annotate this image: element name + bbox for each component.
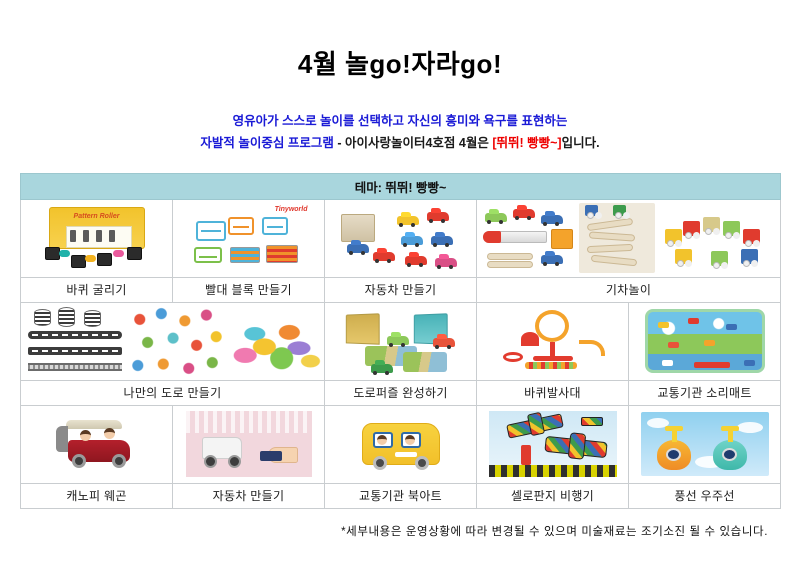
mat-car-orange: [704, 340, 715, 346]
label-car-craft: 자동차 만들기: [173, 483, 325, 508]
puzzle-car-red: [433, 338, 455, 347]
mat-car-red: [688, 318, 699, 324]
straw-frame-blue-2: [262, 217, 288, 235]
theme-banner: 테마: 뛰뛰! 빵빵~: [21, 173, 781, 199]
alpha-car-red-2: [743, 229, 760, 244]
photo-cell-book-art: [325, 405, 477, 483]
car-yellow-1: [397, 216, 419, 225]
mat-car-yellow: [658, 322, 669, 328]
row1-photos: Pattern Roller: [21, 199, 781, 277]
page-title-container: 4월 놀go!자라go!: [20, 0, 780, 81]
photo-cell-my-road: [21, 302, 325, 380]
bus-wheel-front: [373, 456, 387, 470]
curvy-road-tape: [28, 331, 122, 339]
wagon-wheel-front: [72, 454, 86, 468]
child-2: [104, 428, 115, 439]
train-toy-blue: [541, 215, 563, 224]
label-wheel-launcher: 바퀴발사대: [477, 380, 629, 405]
tape-roll-3: [84, 310, 101, 327]
row1-labels: 바퀴 굴리기 빨대 블록 만들기 자동차 만들기 기차놀이: [21, 277, 781, 302]
road-tape-photo: [24, 305, 128, 377]
straw-frame-blue: [196, 221, 226, 241]
row3-labels: 캐노피 웨곤 자동차 만들기 교통기관 북아트 셀로판지 비행기 풍선 우주선: [21, 483, 781, 508]
tape-roll-1: [34, 309, 51, 326]
wood-track-stack: [487, 251, 533, 270]
program-table: 테마: 뛰뛰! 빵빵~ Pattern Roller: [20, 173, 781, 509]
straw-frame-green: [194, 247, 222, 263]
wheel-launcher-illustration: [479, 305, 626, 378]
alpha-car-yellow-2: [675, 249, 692, 264]
cellophane-artwork: [489, 411, 617, 477]
photo-cell-car-making: [325, 199, 477, 277]
label-car-making: 자동차 만들기: [325, 277, 477, 302]
track-piece-4: [590, 254, 636, 266]
label-sound-mat: 교통기관 소리매트: [629, 380, 781, 405]
puzzle-road-piece-2: [403, 352, 447, 372]
wooden-toy-box: [341, 214, 375, 242]
track-piece-3: [587, 244, 633, 253]
pink-craft-kit: [186, 411, 312, 477]
pattern-roller-logo-text: Pattern Roller: [50, 213, 144, 220]
loop-track: [535, 310, 569, 342]
rocket-window-teal: [722, 448, 737, 461]
cellophane-plane-illustration: [479, 408, 626, 481]
photo-cell-road-puzzle: [325, 302, 477, 380]
mat-car-blue-2: [744, 360, 755, 366]
train-figure: [541, 255, 563, 264]
sound-mat-illustration: [631, 305, 778, 378]
photo-cell-car-craft: [173, 405, 325, 483]
wood-track-2: [487, 261, 533, 268]
transport-sound-mat: [645, 309, 765, 373]
launcher-ring: [503, 352, 523, 362]
child-1: [80, 430, 91, 441]
alpha-car-blue: [741, 249, 758, 264]
row2-photos: [21, 302, 781, 380]
mat-train-white: [662, 360, 673, 366]
roller-stamp-row: [70, 230, 115, 242]
car-blue-3: [431, 236, 453, 245]
balloon-spaceship-illustration: [631, 408, 778, 481]
photo-cell-cellophane-plane: [477, 405, 629, 483]
loop-base: [533, 356, 573, 361]
bus-child-2: [405, 435, 415, 445]
alpha-car-yellow: [665, 229, 682, 244]
pattern-roller-illustration: Pattern Roller: [23, 202, 170, 275]
puzzle-box-yellow: [345, 314, 379, 345]
program-page: 4월 놀go!자라go! 영유아가 스스로 놀이를 선택하고 자신의 흥미와 욕…: [0, 0, 800, 566]
track-train-green: [613, 205, 626, 216]
subtitle-line-1: 영유아가 스스로 놀이를 선택하고 자신의 흥미와 욕구를 표현하는: [20, 111, 780, 133]
label-train-play: 기차놀이: [477, 277, 781, 302]
bus-wheel-rear: [415, 456, 429, 470]
station-piece: [551, 229, 573, 249]
my-road-illustration: [23, 305, 322, 378]
footer-note: *세부내용은 운영상황에 따라 변경될 수 있으며 미술재료는 조기소진 될 수…: [20, 523, 780, 539]
puzzle-car-green-2: [371, 364, 393, 373]
road-ground-stripe: [489, 465, 617, 477]
alpha-car-wood: [703, 217, 720, 232]
photo-cell-wheel-launcher: [477, 302, 629, 380]
mat-train-red: [694, 362, 730, 368]
label-straw-blocks: 빨대 블록 만들기: [173, 277, 325, 302]
launch-ramp: [579, 340, 605, 356]
photo-cell-sound-mat: [629, 302, 781, 380]
label-book-art: 교통기관 북아트: [325, 483, 477, 508]
bus-child-1: [377, 435, 387, 445]
track-piece-1: [586, 218, 633, 231]
bus-body: [362, 423, 440, 465]
roller-handle-pink: [113, 250, 124, 257]
photo-cell-wheel-rolling: Pattern Roller: [21, 199, 173, 277]
craft-wheel-2: [228, 455, 241, 468]
page-title: 4월 놀go!자라go!: [20, 44, 780, 81]
track-piece-2: [589, 231, 635, 241]
traffic-light: [521, 445, 531, 465]
photo-cell-train-play: [477, 199, 781, 277]
alphabet-train-photo: [661, 203, 778, 273]
cloud-2: [737, 422, 763, 433]
pink-car-craft-illustration: [175, 408, 322, 481]
wagon-wheel-rear: [112, 454, 126, 468]
rocket-orange: [657, 440, 691, 470]
tape-roll-2: [58, 307, 75, 327]
vehicle-sticker-sheet: [128, 305, 226, 377]
craft-material-pile: [226, 305, 322, 377]
row2-labels: 나만의 도로 만들기 도로퍼즐 완성하기 바퀴발사대 교통기관 소리매트: [21, 380, 781, 405]
label-cellophane-plane: 셀로판지 비행기: [477, 483, 629, 508]
launcher-fan: [521, 332, 539, 346]
mat-car-red-2: [668, 342, 679, 348]
train-play-illustration: [479, 202, 778, 275]
rocket-scene: [641, 412, 769, 476]
rocket-stick-teal: [721, 426, 739, 431]
loop-stand: [550, 342, 555, 356]
roller-black-3: [97, 253, 112, 266]
photo-cell-balloon-spaceship: [629, 405, 781, 483]
mat-car-green: [740, 344, 751, 350]
bus-book-art-illustration: [327, 408, 474, 481]
label-road-puzzle: 도로퍼즐 완성하기: [325, 380, 477, 405]
wagon-handle: [56, 426, 68, 452]
train-toy-green: [485, 213, 507, 222]
mat-car-blue: [726, 324, 737, 330]
toy-car-set-illustration: [327, 202, 474, 275]
bullet-train-nose: [483, 231, 501, 243]
subtitle-branch-text: - 아이사랑놀이터4호점 4월은: [337, 136, 492, 150]
subtitle-line-2: 자발적 놀이중심 프로그램 - 아이사랑놀이터4호점 4월은 [뛰뛰! 빵빵~]…: [20, 133, 780, 155]
subtitle-program-text: 자발적 놀이중심 프로그램: [200, 136, 337, 150]
straight-road-tape: [28, 347, 122, 355]
alpha-car-green-2: [711, 251, 728, 266]
rocket-teal: [713, 440, 747, 470]
label-canopy-wagon: 캐노피 웨곤: [21, 483, 173, 508]
toy-box: Pattern Roller: [49, 207, 145, 249]
roller-handle-yellow: [85, 255, 96, 262]
roller-black-4: [127, 247, 142, 260]
wooden-track-photo: [579, 203, 655, 273]
plane-body-bottom: [567, 432, 586, 460]
car-red-1: [373, 252, 395, 261]
photo-cell-straw-blocks: Tinyworld: [173, 199, 325, 277]
roller-black-1: [45, 247, 60, 260]
craft-sponge: [260, 451, 282, 461]
roller-black-2: [71, 255, 86, 268]
plane-small: [581, 417, 603, 426]
car-blue-1: [347, 244, 369, 253]
straw-tray-2: [266, 245, 298, 263]
subtitle-theme-highlight: [뛰뛰! 빵빵~]: [492, 136, 561, 150]
craft-wheel-1: [204, 455, 217, 468]
row3-photos: [21, 405, 781, 483]
canopy-wagon-illustration: [23, 408, 170, 481]
label-balloon-spaceship: 풍선 우주선: [629, 483, 781, 508]
alpha-car-green: [723, 221, 740, 236]
label-wheel-rolling: 바퀴 굴리기: [21, 277, 173, 302]
photo-cell-canopy-wagon: [21, 405, 173, 483]
straw-frame-orange: [228, 217, 254, 235]
tinyworld-logo-text: Tinyworld: [275, 206, 308, 213]
alpha-car-red: [683, 221, 700, 236]
rail-tape: [28, 363, 122, 371]
car-red-2: [427, 212, 449, 221]
track-train-blue: [585, 205, 598, 216]
car-blue-2: [401, 236, 423, 245]
straw-tray-1: [230, 247, 260, 263]
wood-track-1: [487, 253, 533, 260]
road-puzzle-illustration: [327, 305, 474, 378]
rocket-stick-orange: [665, 426, 683, 431]
label-my-road: 나만의 도로 만들기: [21, 380, 325, 405]
car-pink-1: [435, 258, 457, 267]
subtitle-suffix-text: 입니다.: [562, 136, 600, 150]
gear-row: [525, 362, 577, 369]
roller-handle-teal: [59, 250, 70, 257]
car-red-3: [405, 256, 427, 265]
straw-block-illustration: Tinyworld: [175, 202, 322, 275]
subtitle-block: 영유아가 스스로 놀이를 선택하고 자신의 흥미와 욕구를 표현하는 자발적 놀…: [20, 81, 780, 155]
train-toy-red: [513, 209, 535, 218]
theme-banner-row: 테마: 뛰뛰! 빵빵~: [21, 173, 781, 199]
bus-stripe: [395, 452, 417, 457]
rocket-window-orange: [666, 448, 681, 461]
wagon-canopy: [66, 420, 122, 429]
puzzle-car-green: [387, 336, 409, 345]
